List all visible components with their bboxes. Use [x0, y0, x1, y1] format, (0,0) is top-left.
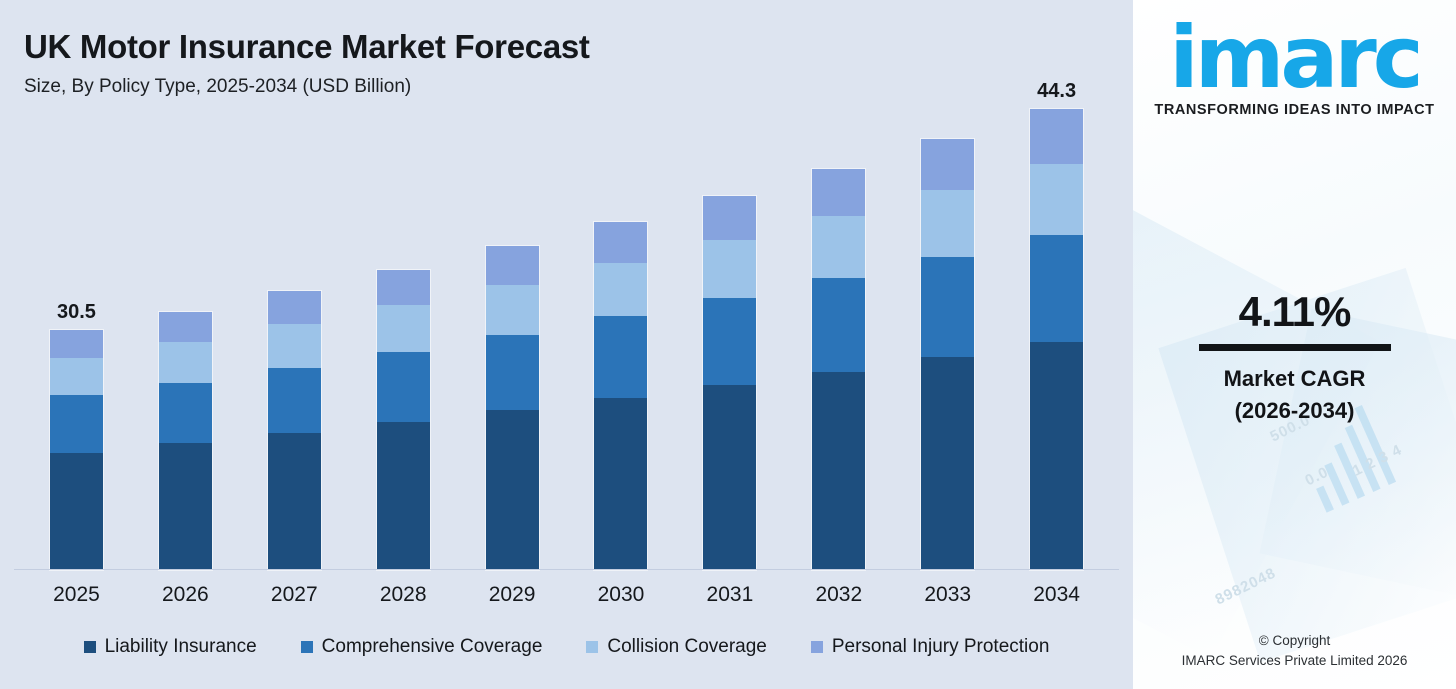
bar-segment[interactable]: [1030, 164, 1083, 235]
stacked-bar[interactable]: [921, 139, 974, 570]
bar-segment[interactable]: [50, 358, 103, 395]
legend-label: Comprehensive Coverage: [322, 636, 543, 658]
bar-segment[interactable]: [921, 357, 974, 570]
stacked-bar[interactable]: [1030, 109, 1083, 570]
legend-swatch-icon: [84, 641, 96, 653]
watermark-text: 8982048: [1213, 565, 1279, 609]
bar-segment[interactable]: [377, 305, 430, 351]
stacked-bar[interactable]: [50, 330, 103, 570]
bar-segment[interactable]: [377, 270, 430, 305]
bar-value-label: 44.3: [1002, 80, 1111, 103]
bar-segment[interactable]: [50, 453, 103, 570]
bar-segment[interactable]: [268, 291, 321, 324]
cagr-label-line1: Market CAGR: [1133, 363, 1456, 395]
bar-segment[interactable]: [703, 196, 756, 240]
legend-label: Collision Coverage: [607, 636, 766, 658]
chart-legend: Liability InsuranceComprehensive Coverag…: [0, 636, 1133, 658]
legend-label: Liability Insurance: [105, 636, 257, 658]
x-axis-tick-label: 2029: [458, 583, 567, 607]
bar-segment[interactable]: [159, 342, 212, 382]
page-title: UK Motor Insurance Market Forecast: [24, 28, 1133, 66]
bar-slot: [675, 158, 784, 570]
copyright-line1: © Copyright: [1133, 631, 1456, 651]
bar-segment[interactable]: [812, 169, 865, 216]
x-axis-tick-label: 2031: [675, 583, 784, 607]
x-axis-tick-label: 2030: [567, 583, 676, 607]
bar-slot: [567, 158, 676, 570]
bar-segment[interactable]: [50, 330, 103, 358]
legend-label: Personal Injury Protection: [832, 636, 1050, 658]
bar-segment[interactable]: [50, 395, 103, 452]
legend-swatch-icon: [301, 641, 313, 653]
bar-slot: [458, 158, 567, 570]
watermark-text: 1 2 3 4: [1350, 441, 1405, 479]
x-axis-tick-label: 2027: [240, 583, 349, 607]
bar-segment[interactable]: [159, 312, 212, 343]
bar-slot: [893, 158, 1002, 570]
legend-swatch-icon: [586, 641, 598, 653]
stacked-bar[interactable]: [812, 169, 865, 570]
bar-segment[interactable]: [486, 410, 539, 570]
copyright-block: © Copyright IMARC Services Private Limit…: [1133, 631, 1456, 672]
legend-item[interactable]: Personal Injury Protection: [811, 636, 1050, 658]
bar-segment[interactable]: [921, 139, 974, 190]
bar-segment[interactable]: [1030, 342, 1083, 570]
x-axis-labels: 2025202620272028202920302031203220332034: [22, 583, 1111, 607]
x-axis-tick-label: 2033: [893, 583, 1002, 607]
bar-slot: [349, 158, 458, 570]
bar-segment[interactable]: [703, 240, 756, 297]
bar-value-label: 30.5: [22, 301, 131, 324]
imarc-logo-text: imarc: [1169, 18, 1420, 100]
bar-segment[interactable]: [268, 368, 321, 433]
stacked-bar[interactable]: [377, 270, 430, 570]
page-subtitle: Size, By Policy Type, 2025-2034 (USD Bil…: [24, 76, 1133, 98]
chart-panel: UK Motor Insurance Market Forecast Size,…: [0, 0, 1133, 689]
bar-slot: 44.3: [1002, 158, 1111, 570]
cagr-label-line2: (2026-2034): [1133, 395, 1456, 427]
bar-segment[interactable]: [377, 422, 430, 570]
bar-segment[interactable]: [812, 216, 865, 277]
x-axis-tick-label: 2034: [1002, 583, 1111, 607]
bar-segment[interactable]: [812, 278, 865, 372]
bar-slot: 30.5: [22, 158, 131, 570]
stacked-bar[interactable]: [268, 291, 321, 570]
bar-segment[interactable]: [921, 190, 974, 256]
bar-segment[interactable]: [268, 324, 321, 367]
bar-segment[interactable]: [594, 316, 647, 397]
legend-swatch-icon: [811, 641, 823, 653]
bar-segment[interactable]: [594, 398, 647, 570]
background-sheet: [1133, 201, 1380, 660]
bar-segment[interactable]: [268, 433, 321, 570]
bar-segment[interactable]: [921, 257, 974, 357]
bar-segment[interactable]: [377, 352, 430, 422]
bar-slot: [131, 158, 240, 570]
x-axis-tick-label: 2028: [349, 583, 458, 607]
bar-segment[interactable]: [594, 263, 647, 317]
infographic-page: UK Motor Insurance Market Forecast Size,…: [0, 0, 1456, 689]
x-axis-line: [14, 569, 1119, 570]
bar-segment[interactable]: [703, 298, 756, 385]
stacked-bar[interactable]: [486, 246, 539, 570]
chart-header: UK Motor Insurance Market Forecast Size,…: [0, 28, 1133, 98]
bar-segment[interactable]: [594, 222, 647, 263]
legend-item[interactable]: Collision Coverage: [586, 636, 766, 658]
x-axis-tick-label: 2032: [784, 583, 893, 607]
bar-slot: [784, 158, 893, 570]
bar-group: 30.544.3: [22, 158, 1111, 570]
plot-area: 30.544.3: [0, 130, 1133, 570]
bar-segment[interactable]: [703, 385, 756, 570]
copyright-line2: IMARC Services Private Limited 2026: [1133, 651, 1456, 671]
stacked-bar[interactable]: [703, 196, 756, 570]
bar-segment[interactable]: [159, 383, 212, 444]
bar-segment[interactable]: [486, 246, 539, 285]
x-axis-tick-label: 2025: [22, 583, 131, 607]
bar-segment[interactable]: [1030, 235, 1083, 342]
bar-segment[interactable]: [159, 443, 212, 570]
legend-item[interactable]: Comprehensive Coverage: [301, 636, 543, 658]
legend-item[interactable]: Liability Insurance: [84, 636, 257, 658]
bar-segment[interactable]: [1030, 109, 1083, 163]
bar-segment[interactable]: [486, 335, 539, 411]
cagr-value: 4.11%: [1133, 288, 1456, 336]
bar-segment[interactable]: [486, 285, 539, 335]
cagr-block: 4.11% Market CAGR (2026-2034): [1133, 288, 1456, 427]
cagr-divider-rule: [1199, 344, 1391, 351]
brand-panel: 500.0 0.0 1 2 3 4 8982048 imarc TRANSFOR…: [1133, 0, 1456, 689]
stacked-bar[interactable]: [594, 222, 647, 570]
x-axis-tick-label: 2026: [131, 583, 240, 607]
bar-segment[interactable]: [812, 372, 865, 570]
watermark-text: 0.0: [1302, 464, 1331, 490]
brand-logo: imarc TRANSFORMING IDEAS INTO IMPACT: [1133, 18, 1456, 118]
stacked-bar[interactable]: [159, 312, 212, 570]
bar-slot: [240, 158, 349, 570]
